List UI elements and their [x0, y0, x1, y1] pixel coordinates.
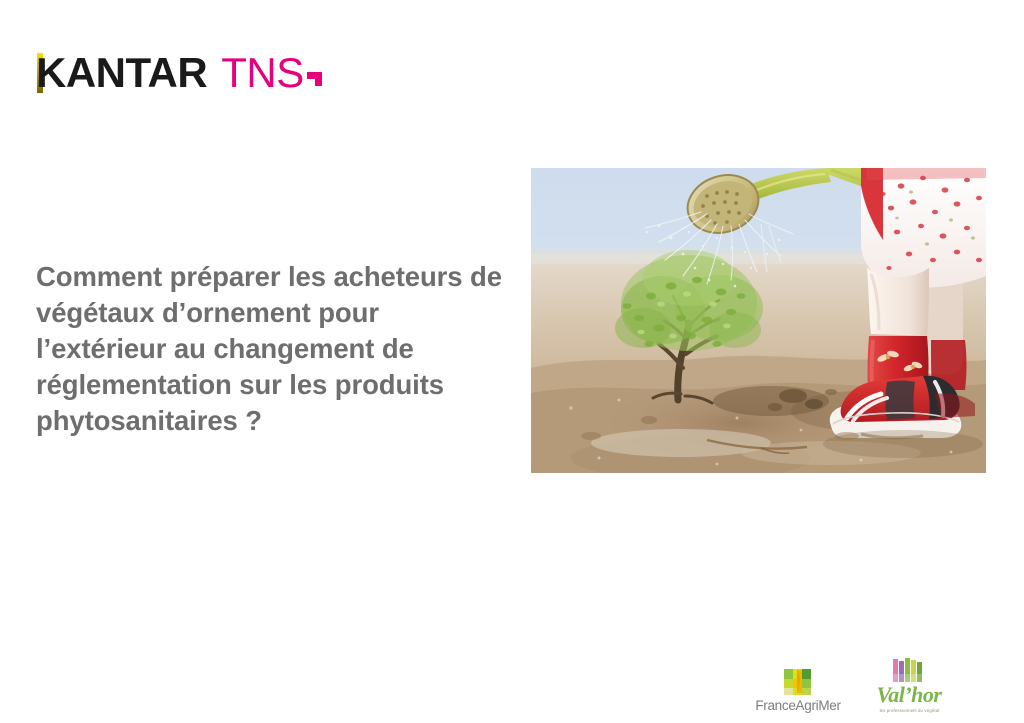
hero-photo: [531, 168, 986, 473]
slide-title: Comment préparer les acheteurs de végéta…: [36, 259, 506, 439]
hero-photo-illustration: [531, 168, 986, 473]
kantar-tns-logo: KANTAR TNS: [36, 48, 322, 98]
tns-wordmark-text: TNS: [221, 49, 304, 96]
valhor-bars-icon: [892, 658, 926, 683]
valhor-logo: Val’hor les professionnels du végétal: [866, 658, 952, 713]
kantar-wordmark: KANTAR: [36, 52, 207, 94]
tns-corner-square-icon: [307, 72, 322, 86]
tns-wordmark: TNS: [221, 52, 322, 94]
partner-logos: FranceAgriMer Val’hor les professionnels…: [752, 655, 962, 713]
kantar-wordmark-text: KANTAR: [36, 49, 207, 96]
slide-canvas: KANTAR TNS Comment préparer les acheteur…: [0, 0, 1024, 723]
franceagrimer-logo: FranceAgriMer: [752, 667, 844, 713]
valhor-label: Val’hor: [877, 684, 942, 706]
franceagrimer-label: FranceAgriMer: [755, 698, 840, 713]
franceagrimer-mosaic-icon: [783, 667, 813, 697]
valhor-tagline: les professionnels du végétal: [879, 708, 939, 713]
